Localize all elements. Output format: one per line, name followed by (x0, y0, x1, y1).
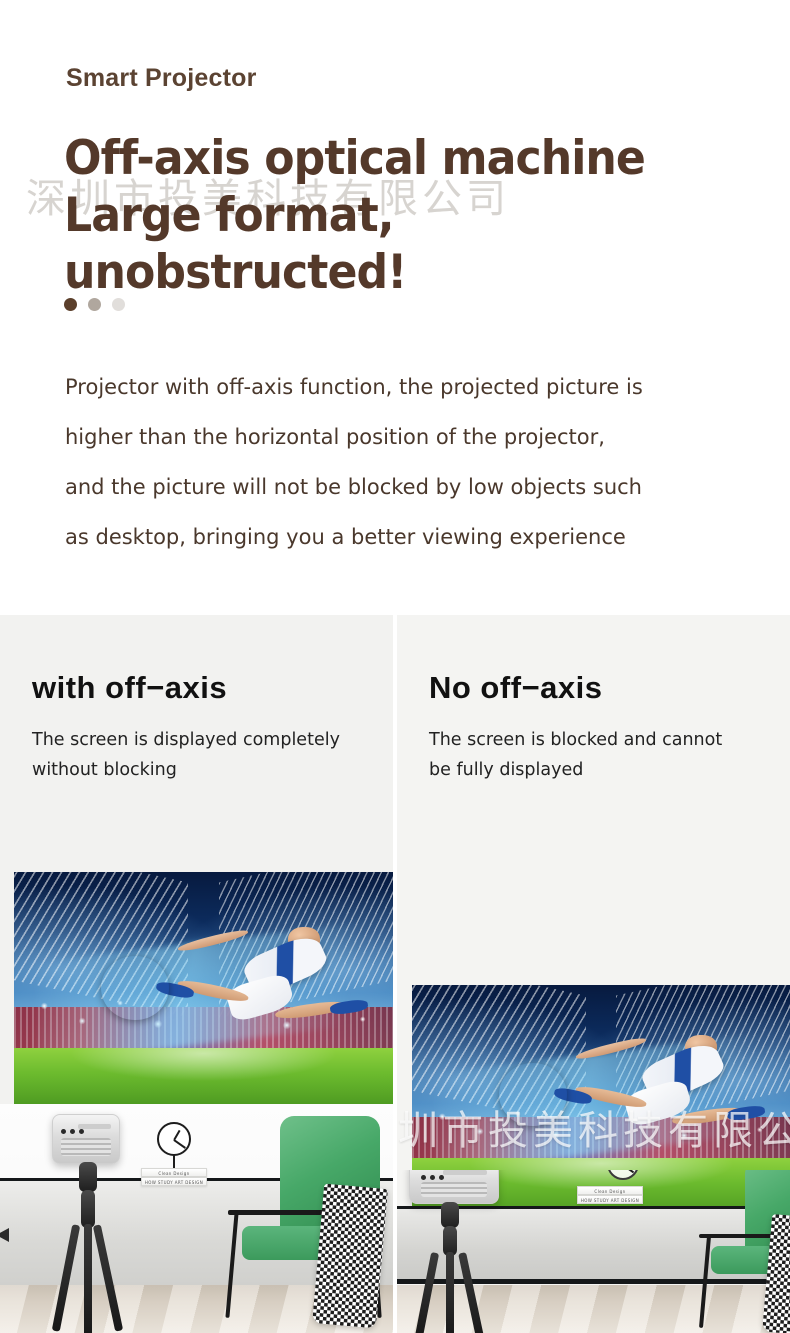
projector-top-bar (78, 1124, 111, 1129)
player-arm (575, 1035, 647, 1061)
projector-device (52, 1114, 120, 1164)
soccer-ball (499, 1063, 567, 1127)
page-eyebrow: Smart Projector (66, 64, 257, 93)
book-label-top: Clean Design (141, 1171, 207, 1176)
desk-clock (607, 1170, 639, 1180)
houndstooth-blanket (312, 1183, 388, 1328)
book-label-top: Clean Design (577, 1189, 643, 1194)
headline-line-1: Off-axis optical machine (64, 131, 645, 186)
projector-led-1 (61, 1129, 66, 1134)
soccer-player (571, 1031, 783, 1163)
tripod-leg-center (84, 1224, 92, 1333)
left-sub-line-1: The screen is displayed completely (32, 725, 340, 755)
left-panel-subtitle: The screen is displayed completely witho… (32, 725, 340, 785)
clock-hand-minute (174, 1139, 186, 1148)
description-line-1: Projector with off-axis function, the pr… (65, 362, 765, 412)
tripod-stand (60, 1162, 116, 1332)
left-panel-title: with off−axis (32, 670, 227, 706)
desk-clock (157, 1122, 191, 1156)
soccer-player (173, 923, 385, 1058)
carousel-dots[interactable] (64, 298, 125, 311)
tripod-stand (421, 1202, 479, 1333)
right-panel-title: No off−axis (429, 670, 602, 706)
room-scene-right: Clean Design HOW STUDY ART DESIGN (397, 1170, 790, 1333)
clock-hand-minute (623, 1170, 635, 1173)
book-label-bottom: HOW STUDY ART DESIGN (577, 1198, 643, 1203)
book-label-bottom: HOW STUDY ART DESIGN (141, 1180, 207, 1185)
projector-led-2 (430, 1175, 435, 1180)
tripod-head (441, 1202, 459, 1228)
panel-with-off-axis: with off−axis The screen is displayed co… (0, 615, 393, 1333)
headline-line-2: Large format, unobstructed! (64, 187, 750, 301)
room-scene-left: Clean Design HOW STUDY ART DESIGN (0, 1104, 393, 1333)
hero-section: 深圳市投美科技有限公司 Smart Projector Off-axis opt… (0, 0, 790, 615)
projector-grille (61, 1138, 111, 1156)
carousel-dot-2[interactable] (88, 298, 101, 311)
tripod-column (81, 1190, 95, 1228)
green-armchair (697, 1170, 790, 1333)
description-line-2: higher than the horizontal position of t… (65, 412, 765, 462)
page-title: Off-axis optical machine Large format, u… (64, 130, 750, 301)
projector-indicators (61, 1129, 84, 1134)
book-stack: Clean Design HOW STUDY ART DESIGN (577, 1186, 643, 1204)
description-line-3: and the picture will not be blocked by l… (65, 462, 765, 512)
projector-top-bar (443, 1170, 487, 1175)
tripod-leg-center (446, 1252, 454, 1333)
left-sub-line-2: without blocking (32, 755, 340, 785)
right-panel-subtitle: The screen is blocked and cannot be full… (429, 725, 722, 785)
projector-led-3 (439, 1175, 444, 1180)
projector-indicators (421, 1175, 444, 1180)
chair-leg-front-left (225, 1212, 238, 1318)
projector-grille (421, 1182, 488, 1197)
tripod-head (79, 1162, 97, 1192)
comparison-section: with off−axis The screen is displayed co… (0, 615, 790, 1333)
carousel-dot-3[interactable] (112, 298, 125, 311)
right-sub-line-2: be fully displayed (429, 755, 722, 785)
projector-led-3 (79, 1129, 84, 1134)
projector-led-2 (70, 1129, 75, 1134)
carousel-dot-1[interactable] (64, 298, 77, 311)
description-paragraph: Projector with off-axis function, the pr… (65, 362, 765, 562)
projector-led-1 (421, 1175, 426, 1180)
panel-no-off-axis: No off−axis The screen is blocked and ca… (397, 615, 790, 1333)
projector-device (409, 1170, 499, 1204)
screen-edge-arrow (0, 1228, 9, 1242)
projected-screen-unblocked (14, 872, 393, 1104)
chair-leg-front-left (699, 1236, 711, 1328)
book-stack: Clean Design HOW STUDY ART DESIGN (141, 1168, 207, 1186)
player-arm (177, 928, 249, 955)
green-armchair (222, 1116, 393, 1321)
right-sub-line-1: The screen is blocked and cannot (429, 725, 722, 755)
product-detail-page: 深圳市投美科技有限公司 Smart Projector Off-axis opt… (0, 0, 790, 1333)
description-line-4: as desktop, bringing you a better viewin… (65, 512, 765, 562)
